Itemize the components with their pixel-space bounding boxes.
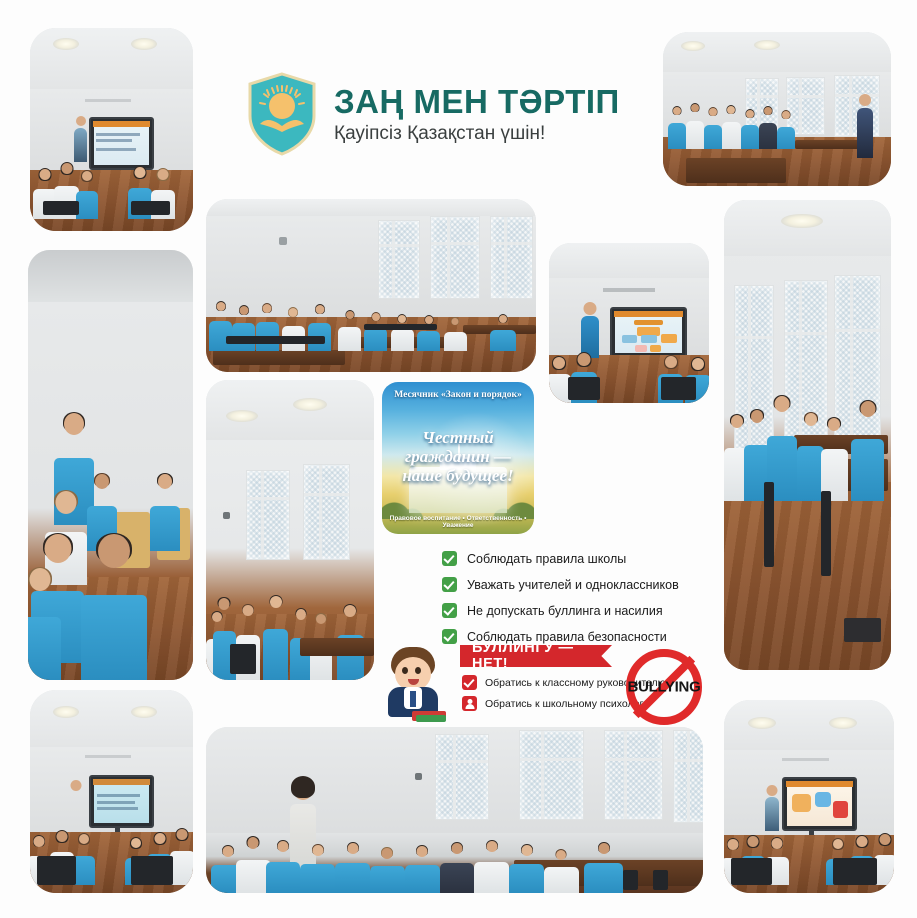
photo-content bbox=[724, 700, 894, 893]
checklist-item-label: Соблюдать правила школы bbox=[467, 552, 626, 566]
poster-headline: Честный гражданин — наше будущее! bbox=[382, 428, 534, 485]
photo-classroom-speaker-smartboard-mid[interactable] bbox=[549, 243, 709, 403]
photo-content bbox=[724, 200, 891, 670]
photo-content bbox=[663, 32, 891, 186]
photo-classroom-teacher-standing-bottom[interactable] bbox=[206, 727, 703, 893]
checklist-item: Уважать учителей и одноклассников bbox=[442, 577, 702, 592]
checklist-item-label: Не допускать буллинга и насилия bbox=[467, 604, 663, 618]
photo-collage: ЗАҢ МЕН ТӘРТІП Қауіпсіз Қазақстан үшін! bbox=[0, 0, 917, 918]
no-bullying-sign-label: BULLYING bbox=[626, 679, 702, 696]
rules-checklist: Соблюдать правила школы Уважать учителей… bbox=[442, 551, 702, 644]
anti-bullying-block: БУЛЛИНГУ — НЕТ! Обратись к классному рук… bbox=[382, 645, 702, 721]
check-icon bbox=[442, 577, 457, 592]
check-icon bbox=[442, 551, 457, 566]
logo-title: ЗАҢ МЕН ТӘРТІП bbox=[334, 85, 620, 118]
no-bullying-sign-icon: BULLYING bbox=[626, 649, 702, 725]
photo-content bbox=[206, 199, 536, 372]
photo-classroom-presentation-top-left[interactable] bbox=[30, 28, 193, 231]
photo-content bbox=[206, 727, 703, 893]
poster-mesyachnik-zakon-i-poryadok[interactable]: Месячник «Закон и порядок» Честный гражд… bbox=[382, 382, 534, 534]
photo-content bbox=[30, 28, 193, 231]
photo-classroom-presentation-bottom-right[interactable] bbox=[724, 700, 894, 893]
photo-classroom-presentation-bottom-left[interactable] bbox=[30, 690, 193, 893]
poster-headline-line2: наше будущее! bbox=[382, 466, 534, 485]
checklist-item: Не допускать буллинга и насилия bbox=[442, 603, 702, 618]
photo-students-group-left-tall[interactable] bbox=[28, 250, 193, 680]
photo-content bbox=[28, 250, 193, 680]
checklist-item: Соблюдать правила школы bbox=[442, 551, 702, 566]
brand-logo: ЗАҢ МЕН ТӘРТІП Қауіпсіз Қазақстан үшін! bbox=[246, 72, 620, 156]
poster-headline-line1: Честный гражданин — bbox=[382, 428, 534, 466]
photo-classroom-students-mid-lower[interactable] bbox=[206, 380, 374, 680]
person-icon bbox=[462, 696, 477, 711]
kazakhstan-shield-sun-eagle-icon bbox=[246, 72, 318, 156]
checklist-item-label: Соблюдать правила безопасности bbox=[467, 630, 667, 644]
checkbox-icon bbox=[462, 675, 477, 690]
checklist-item: Соблюдать правила безопасности bbox=[442, 629, 702, 644]
poster-footer: Правовое воспитание • Ответственность • … bbox=[382, 515, 534, 529]
photo-content bbox=[30, 690, 193, 893]
poster-header: Месячник «Закон и порядок» bbox=[382, 390, 534, 400]
anti-bullying-banner: БУЛЛИНГУ — НЕТ! bbox=[460, 645, 612, 667]
logo-subtitle: Қауіпсіз Қазақстан үшін! bbox=[334, 124, 620, 143]
photo-content bbox=[549, 243, 709, 403]
check-icon bbox=[442, 603, 457, 618]
check-icon bbox=[442, 629, 457, 644]
photo-classroom-audience-top-right[interactable] bbox=[663, 32, 891, 186]
photo-classroom-students-right-tall[interactable] bbox=[724, 200, 891, 670]
checklist-item-label: Уважать учителей и одноклассников bbox=[467, 578, 679, 592]
photo-classroom-students-seated-upper-mid[interactable] bbox=[206, 199, 536, 372]
cartoon-schoolboy-icon bbox=[382, 647, 444, 721]
bullying-action-label: Обратись к школьному психологу bbox=[485, 698, 649, 710]
photo-content bbox=[206, 380, 374, 680]
